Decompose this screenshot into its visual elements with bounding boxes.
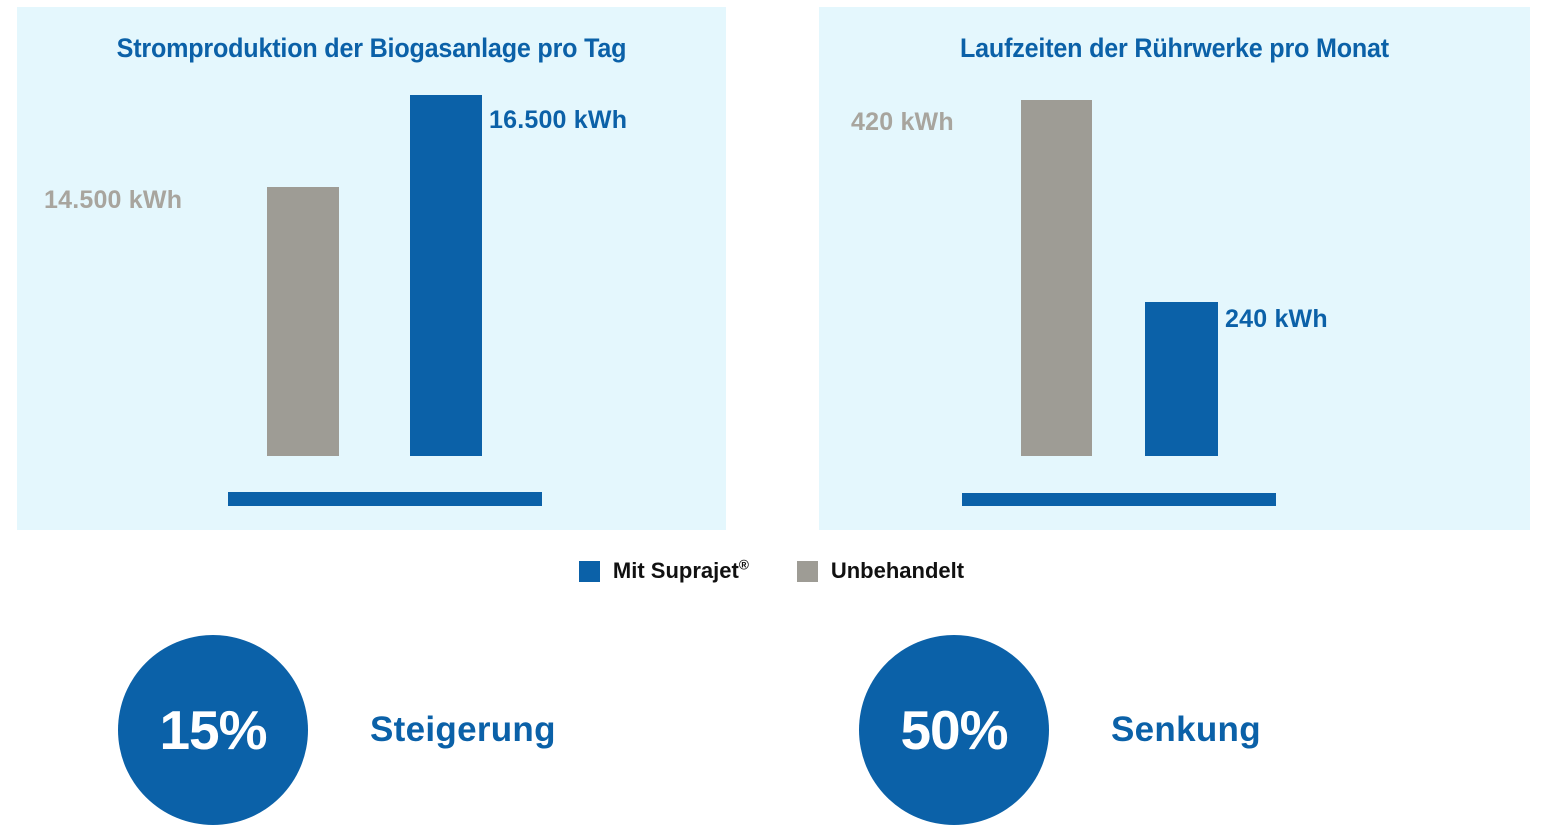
value-label-untreated-right: 420 kWh <box>851 108 954 137</box>
bar-suprajet-left <box>410 95 482 456</box>
plot-area-left: 14.500 kWh 16.500 kWh <box>17 7 726 530</box>
chart-panel-right: Laufzeiten der Rührwerke pro Monat 420 k… <box>819 7 1530 530</box>
value-label-untreated-left: 14.500 kWh <box>44 186 182 215</box>
registered-trademark-icon: ® <box>739 558 749 573</box>
value-label-suprajet-right: 240 kWh <box>1225 305 1328 334</box>
stat-value-reduction: 50% <box>900 703 1007 758</box>
plot-area-right: 420 kWh 240 kWh <box>819 7 1530 530</box>
legend-swatch-gray-icon <box>797 561 818 582</box>
baseline-left <box>228 492 542 506</box>
legend-swatch-blue-icon <box>579 561 600 582</box>
bar-untreated-right <box>1021 100 1092 456</box>
stat-caption-reduction: Senkung <box>1111 710 1261 750</box>
stat-caption-increase: Steigerung <box>370 710 556 750</box>
stat-value-increase: 15% <box>159 703 266 758</box>
stat-circle-increase: 15% <box>118 635 308 825</box>
bar-suprajet-right <box>1145 302 1218 456</box>
legend-item-suprajet[interactable]: Mit Suprajet® <box>579 560 749 582</box>
chart-legend: Mit Suprajet® Unbehandelt <box>0 556 1543 586</box>
stat-circle-reduction: 50% <box>859 635 1049 825</box>
legend-item-untreated[interactable]: Unbehandelt <box>797 560 964 582</box>
stat-block-reduction: 50% Senkung <box>859 635 1261 825</box>
legend-label-untreated: Unbehandelt <box>831 560 964 582</box>
bar-untreated-left <box>267 187 339 456</box>
chart-panel-left: Stromproduktion der Biogasanlage pro Tag… <box>17 7 726 530</box>
stat-block-increase: 15% Steigerung <box>118 635 556 825</box>
legend-label-suprajet: Mit Suprajet® <box>613 560 749 582</box>
baseline-right <box>962 493 1276 506</box>
legend-label-suprajet-text: Mit Suprajet <box>613 558 739 583</box>
value-label-suprajet-left: 16.500 kWh <box>489 106 627 135</box>
